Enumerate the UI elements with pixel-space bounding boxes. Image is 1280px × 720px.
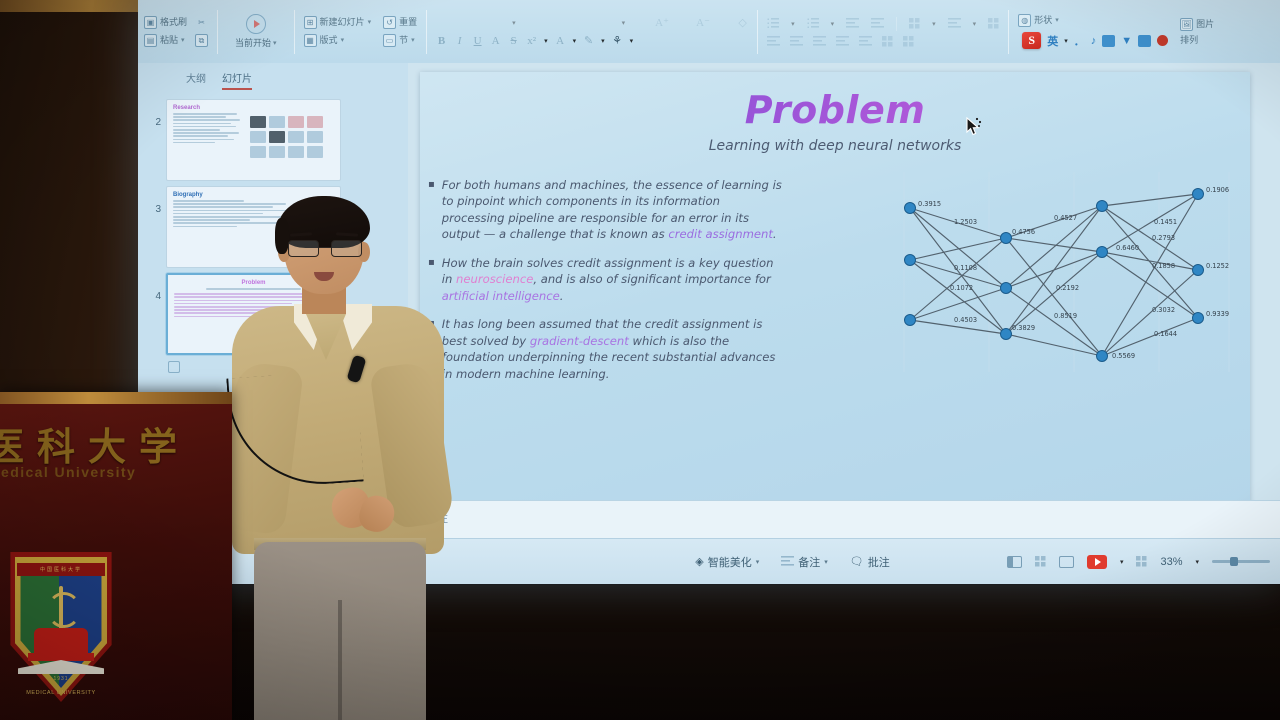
justify-icon[interactable]	[836, 36, 849, 47]
svg-text:0.1858: 0.1858	[1152, 262, 1175, 270]
shapes-icon: ◍	[1018, 14, 1031, 27]
section-icon: ▭	[383, 34, 396, 47]
slide-number: 3	[148, 186, 161, 215]
svg-text:0.1644: 0.1644	[1154, 330, 1177, 338]
sogou-ime-bar[interactable]: S 英 ▾ ． ♪ ▼	[1018, 32, 1168, 49]
thumbnail-figures	[250, 113, 334, 158]
bullet-item: ▪ It has long been assumed that the cred…	[428, 316, 783, 382]
align-left-icon[interactable]	[767, 36, 780, 47]
comments-label: 批注	[868, 554, 890, 570]
trousers	[254, 542, 426, 720]
numbered-list-icon[interactable]	[807, 18, 819, 29]
bullet-text: It has long been assumed that the credit…	[442, 316, 783, 382]
panel-tabs[interactable]: 大纲 幻灯片	[138, 63, 408, 94]
chevron-down-icon: ▾	[973, 20, 977, 28]
font-style-buttons[interactable]: B I U A S x² ▾ A ▾ ✎ ▾ ⚘ ▾	[436, 34, 748, 47]
paste-label: 粘贴	[160, 36, 178, 45]
layout-label: 版式	[320, 36, 338, 45]
strikethrough-button[interactable]: S	[508, 35, 519, 47]
thumbnail-item-2[interactable]: 2 Research	[138, 94, 408, 181]
chevron-down-icon: ▾	[273, 39, 277, 47]
chevron-down-icon: ▾	[1120, 558, 1124, 566]
start-slideshow-label: 当前开始	[235, 36, 271, 49]
podium-university-name: 医科大学	[0, 416, 232, 471]
chevron-down-icon: ▾	[573, 37, 577, 45]
ribbon-divider	[217, 10, 218, 54]
zoom-slider[interactable]	[1212, 560, 1270, 563]
chevron-down-icon: ▾	[1055, 17, 1059, 24]
chevron-down-icon: ▾	[756, 558, 760, 566]
ribbon-group-slides: ⊞ 新建幻灯片 ▾ ▦ 版式 ▾ ↺ 重置 ▭ 节 ▾	[298, 0, 424, 63]
university-crest: 中国医科大学 1931 MEDICAL UNIVERSITY	[6, 552, 116, 702]
right-lens	[331, 240, 362, 257]
crest-building-icon	[34, 628, 88, 654]
shapes-label: 形状	[1034, 16, 1052, 25]
svg-text:0.2793: 0.2793	[1152, 234, 1175, 242]
slide-subtitle[interactable]: Learning with deep neural networks	[420, 138, 1250, 154]
chevron-down-icon: ▾	[1064, 37, 1068, 45]
slideshow-play-button[interactable]	[1087, 555, 1107, 569]
slide-body-text[interactable]: ▪ For both humans and machines, the esse…	[428, 177, 783, 394]
distribute-icon[interactable]	[859, 36, 872, 47]
glasses-bridge	[319, 247, 331, 248]
layout-button[interactable]: ▦ 版式 ▾	[304, 34, 372, 47]
superscript-button[interactable]: x²	[526, 35, 537, 47]
increase-font-size-button[interactable]: A⁺	[655, 16, 666, 29]
comments-button[interactable]: 🗨 批注	[850, 554, 890, 570]
ribbon-group-font: ▾ ▾ A⁺ A⁻ ◇ B I U A S x² ▾ A ▾	[430, 0, 754, 63]
columns-icon[interactable]	[882, 36, 893, 47]
tab-outline[interactable]: 大纲	[186, 70, 206, 90]
copy-icon: ⧉	[195, 34, 208, 47]
crest-top-text: 中国医科大学	[17, 563, 105, 576]
chevron-down-icon: ▾	[622, 19, 626, 27]
svg-text:0.8519: 0.8519	[1054, 312, 1077, 320]
svg-text:0.3829: 0.3829	[1012, 324, 1035, 332]
convert-smartart-icon[interactable]	[988, 18, 999, 29]
chevron-down-icon: ▾	[791, 20, 795, 28]
format-painter-icon: ▣	[144, 16, 157, 29]
list-buttons[interactable]: ▾ ▾ ▾ ▾	[767, 17, 999, 31]
normal-view-icon[interactable]	[1007, 556, 1022, 568]
svg-text:0.1906: 0.1906	[1206, 186, 1229, 194]
decrease-indent-icon[interactable]	[846, 18, 859, 29]
new-slide-label: 新建幻灯片	[320, 18, 365, 27]
mouse-cursor-icon	[965, 117, 983, 137]
ribbon-divider	[757, 10, 758, 54]
format-painter-button[interactable]: ▣ 格式刷	[144, 16, 187, 29]
svg-text:0.1451: 0.1451	[1154, 218, 1177, 226]
underline-button[interactable]: U	[472, 35, 483, 47]
chevron-down-icon: ▾	[601, 37, 605, 45]
ribbon-toolbar[interactable]: ▣ 格式刷 ▤ 粘贴 ▾ ✂ ⧉	[138, 0, 1280, 63]
section-label: 节	[399, 36, 408, 45]
slide-thumbnail[interactable]: Research	[166, 99, 341, 181]
paste-icon: ▤	[144, 34, 157, 47]
arrange-button[interactable]: 排列	[1180, 36, 1214, 45]
chevron-down-icon: ▾	[824, 558, 828, 566]
thumbnail-text-lines	[173, 113, 246, 143]
align-right-icon[interactable]	[813, 36, 826, 47]
svg-text:0.1072: 0.1072	[950, 284, 973, 292]
status-middle: ◈ 智能美化 ▾ 备注 ▾ 🗨 批注	[578, 554, 1007, 570]
play-circle-icon	[246, 14, 266, 34]
notes-label: 备注	[798, 554, 820, 570]
smart-beautify-button[interactable]: ◈ 智能美化 ▾	[695, 554, 759, 570]
glasses	[286, 240, 364, 257]
text-direction-icon[interactable]	[948, 18, 961, 29]
picture-label: 图片	[1196, 20, 1214, 29]
svg-text:0.5569: 0.5569	[1112, 352, 1135, 360]
picture-button[interactable]: 🖼 图片	[1180, 18, 1214, 31]
neural-network-diagram[interactable]: 0.3915 1.2503 0.4756 0.4527 0.1906 0.145…	[884, 172, 1244, 372]
ime-punctuation-icon[interactable]: ．	[1074, 33, 1085, 49]
podium-trim	[0, 392, 232, 404]
zoom-level[interactable]: 33%	[1160, 556, 1182, 568]
chevron-down-icon: ▾	[368, 19, 372, 26]
tab-slides[interactable]: 幻灯片	[222, 70, 252, 90]
ribbon-group-paragraph: ▾ ▾ ▾ ▾	[761, 0, 1005, 63]
svg-text:0.1252: 0.1252	[1206, 262, 1229, 270]
reset-label: 重置	[399, 18, 417, 27]
line-spacing-icon[interactable]	[909, 18, 920, 29]
ribbon-group-insert: ◍ 形状 ▾ S 英 ▾ ． ♪ ▼	[1012, 0, 1174, 63]
bullet-item: ▪ For both humans and machines, the esse…	[428, 177, 783, 243]
italic-button[interactable]: I	[454, 35, 465, 47]
clear-format-icon[interactable]: ◇	[737, 16, 748, 29]
decrease-font-size-button[interactable]: A⁻	[696, 16, 707, 29]
svg-text:0.6460: 0.6460	[1116, 244, 1139, 252]
chevron-down-icon: ▾	[630, 37, 634, 45]
svg-text:0.4756: 0.4756	[1012, 228, 1035, 236]
ribbon-divider	[294, 10, 295, 54]
ime-toolbox-icon[interactable]: ▼	[1121, 35, 1132, 47]
ime-language-toggle[interactable]: 英	[1047, 33, 1058, 49]
chevron-down-icon: ▾	[1195, 558, 1199, 566]
notes-icon	[781, 556, 794, 567]
beautify-icon: ◈	[695, 555, 703, 568]
highlight-color-icon[interactable]: ✎	[583, 34, 594, 47]
chevron-down-icon: ▾	[831, 20, 835, 28]
bullet-text: How the brain solves credit assignment i…	[442, 255, 783, 304]
svg-text:0.3915: 0.3915	[918, 200, 941, 208]
slide-number: 4	[148, 273, 161, 302]
ime-keyboard-icon[interactable]	[1102, 35, 1115, 47]
ribbon-divider	[1008, 10, 1009, 54]
slide-sorter-view-icon[interactable]	[1035, 556, 1046, 567]
font-size-select[interactable]	[546, 18, 592, 27]
svg-text:0.1108: 0.1108	[954, 264, 977, 272]
copy-button[interactable]: ⧉	[195, 34, 208, 47]
presenter-person	[232, 196, 444, 720]
ime-settings-icon[interactable]	[1157, 35, 1168, 46]
start-slideshow-button[interactable]: 当前开始 ▾	[227, 14, 285, 49]
ribbon-group-slideshow: 当前开始 ▾	[221, 0, 291, 63]
ime-apps-icon[interactable]	[1138, 35, 1151, 47]
reset-icon: ↺	[383, 16, 396, 29]
bold-button[interactable]: B	[436, 35, 447, 47]
chevron-down-icon: ▾	[544, 37, 548, 45]
shadow-button[interactable]: A	[490, 35, 501, 47]
sogou-logo-icon[interactable]: S	[1022, 32, 1041, 49]
podium: 医科大学 Medical University 中国医科大学 1931 MEDI…	[0, 392, 232, 720]
shapes-button[interactable]: ◍ 形状 ▾	[1018, 14, 1168, 27]
align-buttons[interactable]	[767, 36, 999, 47]
thumbnail-title: Research	[173, 105, 334, 111]
bullet-item: ▪ How the brain solves credit assignment…	[428, 255, 783, 304]
svg-text:0.4503: 0.4503	[954, 316, 977, 324]
podium-university-name-en: Medical University	[0, 464, 238, 480]
svg-text:0.4527: 0.4527	[1054, 214, 1077, 222]
svg-text:0.2192: 0.2192	[1056, 284, 1079, 292]
crest-top-band: 中国医科大学	[17, 563, 105, 576]
chevron-down-icon: ▾	[341, 37, 345, 44]
increase-indent-icon[interactable]	[871, 18, 884, 29]
new-slide-icon: ⊞	[304, 16, 317, 29]
new-slide-button[interactable]: ⊞ 新建幻灯片 ▾	[304, 16, 372, 29]
status-right: ▾ 33% ▾	[1007, 555, 1270, 569]
left-lens	[288, 240, 319, 257]
ribbon-divider	[426, 10, 427, 54]
svg-text:1.2503: 1.2503	[954, 218, 977, 226]
text-effect-icon[interactable]: ⚘	[612, 34, 623, 47]
ribbon-group-clipboard: ▣ 格式刷 ▤ 粘贴 ▾ ✂ ⧉	[138, 0, 214, 63]
section-button[interactable]: ▭ 节 ▾	[383, 34, 417, 47]
cut-button[interactable]: ✂	[195, 16, 208, 29]
comment-icon: 🗨	[850, 555, 864, 568]
font-selectors[interactable]: ▾ ▾ A⁺ A⁻ ◇	[436, 16, 748, 29]
notes-toggle-button[interactable]: 备注 ▾	[781, 554, 828, 570]
crest-founding-year: 1931	[6, 676, 116, 682]
chevron-down-icon: ▾	[411, 37, 415, 44]
chevron-down-icon: ▾	[512, 19, 516, 27]
bullet-list-icon[interactable]	[767, 18, 779, 29]
ribbon-group-media: 🖼 图片 排列	[1174, 0, 1220, 63]
beautify-label: 智能美化	[708, 554, 752, 570]
slide-canvas[interactable]: Problem Learning with deep neural networ…	[420, 72, 1250, 517]
align-center-icon[interactable]	[790, 36, 803, 47]
slide-number: 2	[148, 99, 161, 128]
arrange-label: 排列	[1180, 36, 1198, 45]
paste-button[interactable]: ▤ 粘贴 ▾	[144, 34, 187, 47]
bullet-text: For both humans and machines, the essenc…	[442, 177, 783, 243]
svg-text:0.3032: 0.3032	[1152, 306, 1175, 314]
font-color-icon[interactable]: A	[555, 35, 566, 47]
align-vertical-icon[interactable]	[903, 36, 914, 47]
reset-button[interactable]: ↺ 重置	[383, 16, 417, 29]
format-painter-label: 格式刷	[160, 18, 187, 27]
reuse-slide-icon[interactable]	[168, 361, 180, 373]
chevron-down-icon: ▾	[181, 37, 185, 44]
scissors-icon: ✂	[195, 16, 208, 29]
slide-title[interactable]: Problem	[420, 88, 1250, 132]
layout-icon: ▦	[304, 34, 317, 47]
fit-to-window-icon[interactable]	[1136, 556, 1147, 567]
picture-icon: 🖼	[1180, 18, 1193, 31]
ime-voice-icon[interactable]: ♪	[1091, 35, 1097, 47]
font-family-select[interactable]	[436, 18, 482, 27]
chevron-down-icon: ▾	[932, 20, 936, 28]
svg-text:0.9339: 0.9339	[1206, 310, 1229, 318]
crest-english-text: MEDICAL UNIVERSITY	[6, 690, 116, 696]
reading-view-icon[interactable]	[1059, 556, 1074, 568]
